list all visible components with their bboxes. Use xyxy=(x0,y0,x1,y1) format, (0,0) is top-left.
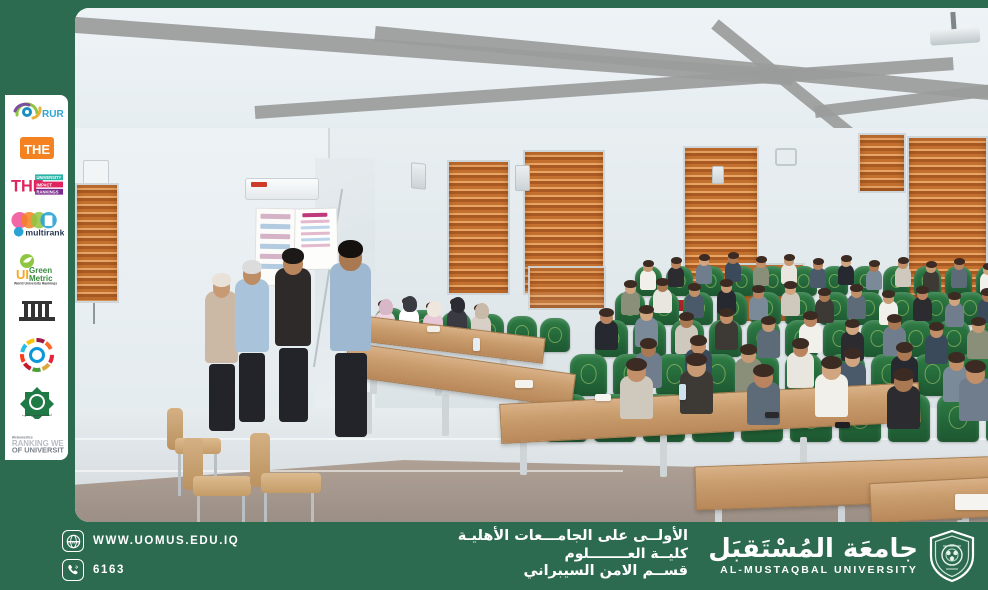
svg-text:WWW: WWW xyxy=(67,539,78,544)
ui-greenmetric-badge: UI Green Metric World University Ranking… xyxy=(10,253,64,285)
arab-universities-union-badge xyxy=(10,297,64,325)
university-names: جامعَة المُسْتَقبَل AL-MUSTAQBAL UNIVERS… xyxy=(708,536,918,576)
paper-sheet xyxy=(595,394,611,401)
svg-text:اتحاد المهندسين العرب: اتحاد المهندسين العرب xyxy=(21,413,51,417)
accreditation-badge-panel: RUR THE THE UNIVERSITY IMPACT RANKINGS xyxy=(5,95,68,460)
water-bottle xyxy=(679,384,686,400)
u-multirank-badge: multirank xyxy=(10,210,64,240)
phone-row[interactable]: 6163 xyxy=(62,559,239,581)
wall-speaker xyxy=(411,162,426,190)
air-conditioner xyxy=(245,178,319,200)
desk-leg xyxy=(957,520,964,522)
svg-text:World University Rankings: World University Rankings xyxy=(14,281,57,285)
globe-icon: WWW xyxy=(62,530,84,552)
headscarf xyxy=(451,297,465,313)
water-bottle xyxy=(473,338,480,351)
svg-text:UNIVERSITY: UNIVERSITY xyxy=(36,175,61,180)
tagline-line-2: كليــة العــــــــلوم xyxy=(458,546,688,563)
arab-engineers-federation-badge: اتحاد المهندسين العرب xyxy=(10,385,64,419)
sdg-goals-badge xyxy=(10,338,64,372)
university-shield-logo xyxy=(924,528,980,584)
mobile-phone xyxy=(835,422,850,428)
desk-leg xyxy=(838,506,845,522)
event-photo xyxy=(75,8,988,522)
svg-text:IMPACT: IMPACT xyxy=(36,182,52,187)
the-ranking-badge: THE xyxy=(10,136,64,160)
headscarf xyxy=(427,301,441,317)
photo-scene xyxy=(75,8,988,522)
desk-leg xyxy=(660,435,667,477)
rur-ranking-badge: RUR xyxy=(10,101,64,123)
university-name-english: AL-MUSTAQBAL UNIVERSITY xyxy=(708,564,918,576)
window-blind xyxy=(528,266,606,310)
headscarf xyxy=(379,299,393,315)
window-blind xyxy=(858,133,906,193)
wall-speaker xyxy=(515,165,530,191)
svg-text:THE: THE xyxy=(24,142,50,157)
svg-text:OF UNIVERSITIES: OF UNIVERSITIES xyxy=(11,445,63,454)
the-impact-rankings-badge: THE UNIVERSITY IMPACT RANKINGS xyxy=(10,173,64,197)
wall-vent xyxy=(775,148,797,166)
university-lockup: جامعَة المُسْتَقبَل AL-MUSTAQBAL UNIVERS… xyxy=(708,528,980,584)
desk-leg xyxy=(442,394,449,436)
website-row[interactable]: WWW WWW.UOMUS.EDU.IQ xyxy=(62,530,239,552)
svg-text:multirank: multirank xyxy=(25,227,64,237)
svg-text:RUR: RUR xyxy=(42,109,63,120)
webometrics-badge: Webometrics RANKING WEB OF UNIVERSITIES xyxy=(10,432,64,454)
website-url: WWW.UOMUS.EDU.IQ xyxy=(93,535,239,547)
phone-icon xyxy=(62,559,84,581)
paper-sheet xyxy=(515,380,533,388)
phone-number: 6163 xyxy=(93,564,125,576)
svg-text:RANKINGS: RANKINGS xyxy=(36,189,58,194)
paper-sheet xyxy=(427,326,440,332)
paper-sheet xyxy=(955,494,988,510)
arabic-tagline-block: الأولــى على الجامـــعات الأهليـة كليــة… xyxy=(458,528,688,580)
wall-speaker xyxy=(712,166,724,184)
tagline-line-1: الأولــى على الجامـــعات الأهليـة xyxy=(458,528,688,546)
university-name-arabic: جامعَة المُسْتَقبَل xyxy=(708,536,918,563)
poster-footer: WWW WWW.UOMUS.EDU.IQ 6163 الأولــى على ا… xyxy=(0,522,988,590)
headscarf xyxy=(403,296,417,312)
mobile-phone xyxy=(765,412,779,418)
svg-text:UI: UI xyxy=(16,267,29,282)
window-blind xyxy=(447,160,510,295)
tagline-line-3: قســم الامن السيبراني xyxy=(458,563,688,581)
headscarf xyxy=(475,303,489,319)
contact-block: WWW WWW.UOMUS.EDU.IQ 6163 xyxy=(62,530,239,581)
poster-root: RUR THE THE UNIVERSITY IMPACT RANKINGS xyxy=(0,0,988,590)
window-blind xyxy=(75,183,119,303)
